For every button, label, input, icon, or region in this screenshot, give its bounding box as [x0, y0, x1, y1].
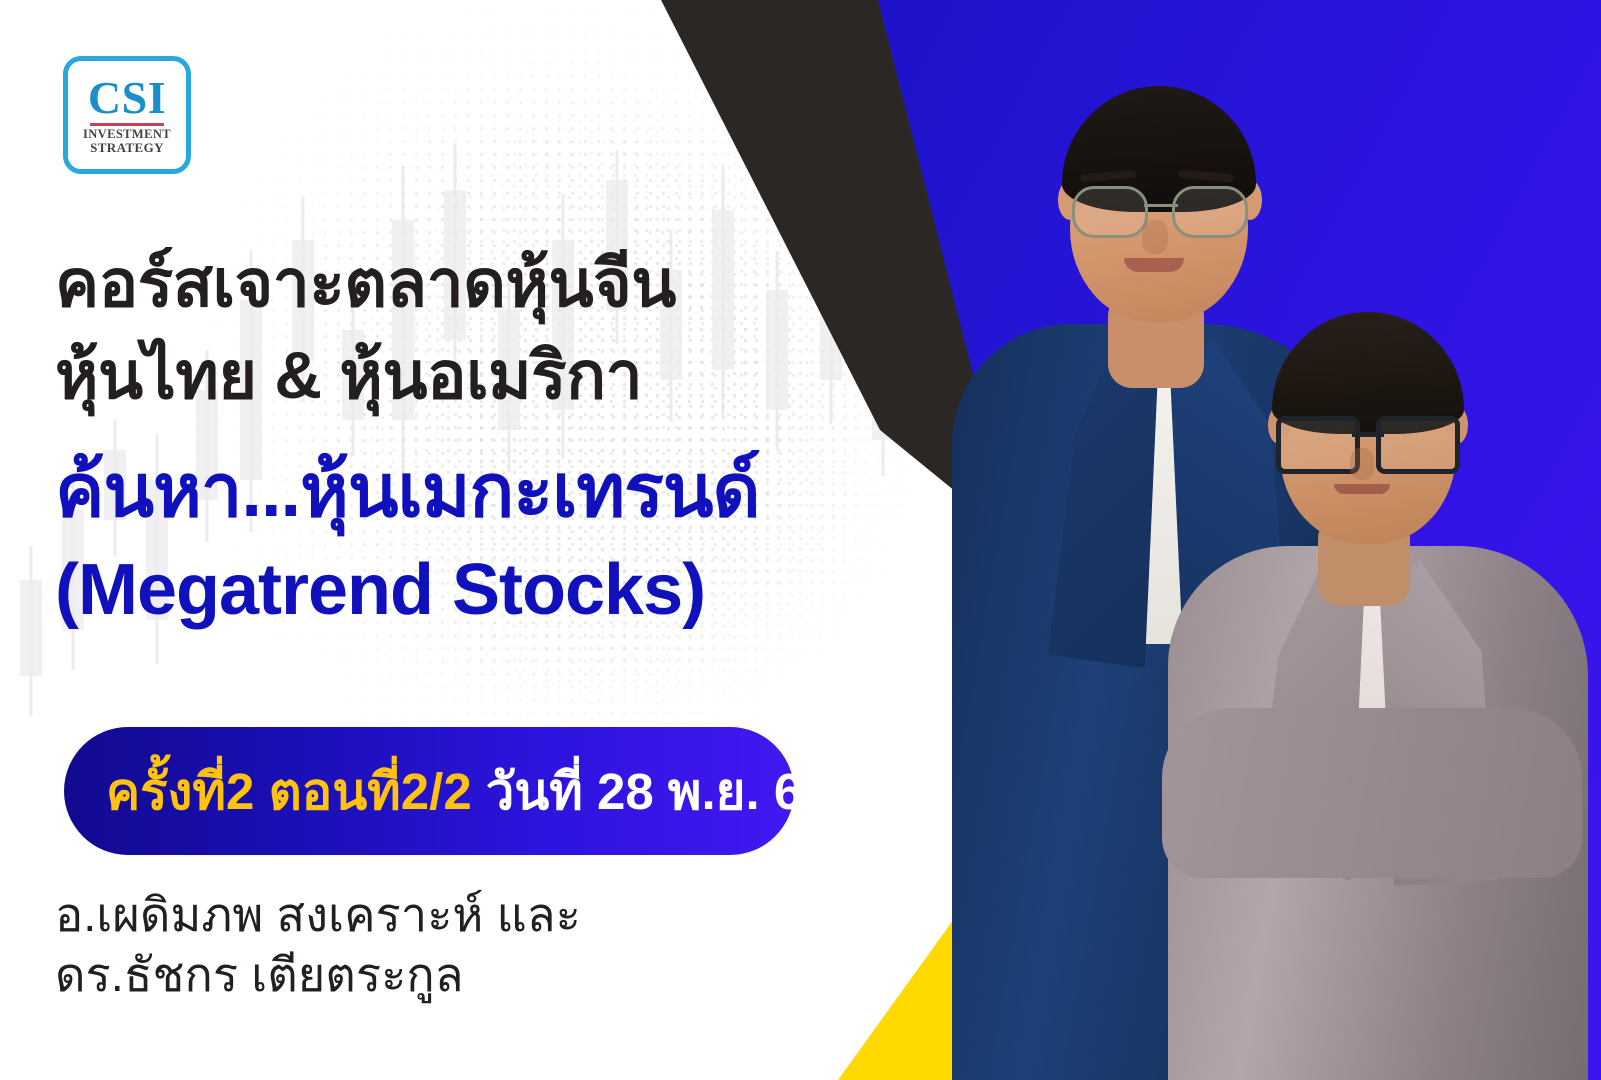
- subheadline-thai: ค้นหา...หุ้นเมกะเทรนด์: [55, 452, 760, 530]
- nose: [1142, 220, 1168, 254]
- session-date-label: วันที่ 28 พ.ย. 63: [486, 751, 831, 832]
- lens-right: [1376, 416, 1460, 474]
- promo-banner: CSI INVESTMENT STRATEGY คอร์สเจาะตลาดหุ้…: [0, 0, 1601, 1080]
- subheadline-english: (Megatrend Stocks): [55, 553, 705, 629]
- speaker-name-line-2: ดร.ธัชกร เตียตระกูล: [55, 945, 464, 1004]
- logo-subtitle-strategy: STRATEGY: [90, 141, 164, 155]
- session-number-label: ครั้งที่2 ตอนที่2/2: [106, 751, 472, 832]
- headline-line-2: หุ้นไทย & หุ้นอเมริกา: [55, 340, 642, 411]
- csi-logo: CSI INVESTMENT STRATEGY: [63, 56, 191, 174]
- headline-line-1: คอร์สเจาะตลาดหุ้นจีน: [55, 248, 676, 319]
- nose: [1350, 448, 1374, 480]
- session-badge: ครั้งที่2 ตอนที่2/2 วันที่ 28 พ.ย. 63: [64, 727, 794, 855]
- speaker-name-line-1: อ.เผดิมภพ สงเคราะห์ และ: [55, 885, 581, 944]
- speakers-photo: [920, 0, 1601, 1080]
- folded-arms: [1162, 708, 1582, 878]
- lens-left: [1276, 416, 1360, 474]
- logo-mark: CSI: [88, 76, 166, 120]
- mouth: [1334, 484, 1390, 494]
- content-area: CSI INVESTMENT STRATEGY คอร์สเจาะตลาดหุ้…: [0, 0, 960, 1080]
- lens-left: [1072, 186, 1148, 238]
- logo-subtitle-investment: INVESTMENT: [83, 128, 171, 141]
- logo-divider: [90, 123, 164, 126]
- glasses-bridge: [1352, 432, 1384, 437]
- speaker-photo-person-b: [1168, 278, 1588, 1080]
- mouth: [1124, 258, 1184, 272]
- glasses-bridge: [1144, 204, 1178, 207]
- lens-right: [1172, 186, 1248, 238]
